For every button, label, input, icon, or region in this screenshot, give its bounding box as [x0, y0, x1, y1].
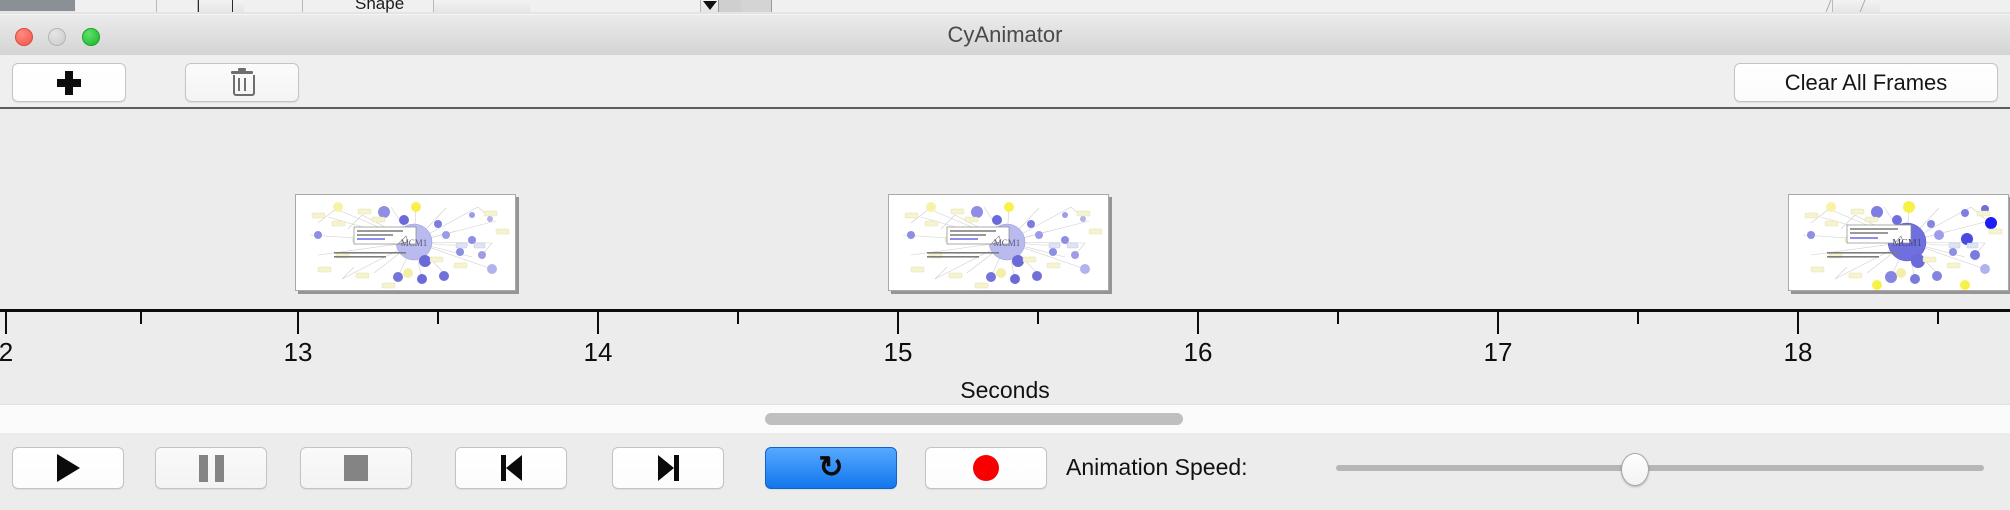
clear-all-frames-button[interactable]: Clear All Frames [1734, 63, 1998, 102]
background-toolbar-segment [1880, 0, 2010, 12]
axis-tick-minor [1637, 312, 1639, 324]
delete-frame-button[interactable] [185, 63, 299, 102]
axis-tick-major [297, 312, 299, 334]
hub-node-label: MCM1 [994, 238, 1021, 248]
timeline-panel[interactable]: MCM1 [0, 109, 2010, 399]
background-window-strip: Shape [0, 0, 2010, 14]
axis-tick-minor [1937, 312, 1939, 324]
timeline-scrollbar[interactable] [0, 404, 2010, 434]
title-bar: CyAnimator [0, 14, 2010, 56]
trash-icon [231, 71, 253, 95]
play-icon [57, 454, 80, 482]
background-toolbar-segment [530, 0, 701, 12]
axis-tick-label: 15 [884, 337, 913, 368]
axis-title: Seconds [0, 377, 2010, 399]
background-shape-label: Shape [355, 0, 404, 14]
background-cursor-icon [703, 1, 717, 10]
record-icon [973, 455, 999, 481]
animation-speed-label: Animation Speed: [1066, 447, 1248, 487]
axis-tick-major [597, 312, 599, 334]
frame-thumbnail[interactable]: MCM1 [295, 194, 516, 291]
skip-start-icon [501, 455, 522, 481]
axis-tick-major [1497, 312, 1499, 334]
axis-tick-label: 16 [1184, 337, 1213, 368]
timeline-axis [0, 309, 2010, 312]
record-button[interactable] [925, 447, 1047, 489]
axis-tick-major [1197, 312, 1199, 334]
background-toolbar-segment [244, 0, 303, 12]
axis-tick-minor [140, 312, 142, 324]
background-button [741, 0, 772, 12]
axis-tick-major [897, 312, 899, 334]
loop-icon: ↻ [818, 453, 843, 483]
background-button [718, 0, 742, 12]
axis-tick-label: 17 [1484, 337, 1513, 368]
window-title: CyAnimator [0, 15, 2010, 55]
slider-thumb[interactable] [1621, 453, 1649, 486]
toolbar: Clear All Frames [0, 55, 2010, 108]
axis-tick-minor [1337, 312, 1339, 324]
add-frame-button[interactable] [12, 63, 126, 102]
scrollbar-thumb[interactable] [765, 413, 1183, 425]
pause-icon [199, 455, 224, 482]
cyanimator-window: Shape CyAnimator Clear All Frames [0, 0, 2010, 510]
loop-button[interactable]: ↻ [765, 447, 897, 489]
skip-to-start-button[interactable] [455, 447, 567, 489]
background-toolbar-segment [76, 0, 157, 12]
background-tick [198, 0, 199, 12]
axis-tick-label: 18 [1784, 337, 1813, 368]
skip-to-end-button[interactable] [612, 447, 724, 489]
slider-track[interactable] [1336, 465, 1984, 471]
axis-tick-label: 13 [284, 337, 313, 368]
pause-button[interactable] [155, 447, 267, 489]
axis-tick-label: 14 [584, 337, 613, 368]
background-toolbar-dark-block [0, 0, 75, 11]
hub-node-label: MCM1 [401, 238, 428, 248]
background-divider [1860, 0, 1878, 12]
axis-tick-minor [737, 312, 739, 324]
axis-tick-major [1797, 312, 1799, 334]
skip-end-icon [658, 455, 679, 481]
axis-tick-label: 2 [0, 337, 13, 368]
hub-node-label: MCM1 [1892, 238, 1921, 249]
axis-tick-minor [1037, 312, 1039, 324]
axis-tick-minor [437, 312, 439, 324]
stop-button[interactable] [300, 447, 412, 489]
playback-controls: ↻ Animation Speed: [0, 433, 2010, 510]
stop-icon [344, 455, 368, 481]
plus-icon [56, 70, 82, 96]
animation-speed-slider[interactable] [1336, 447, 1984, 487]
background-toolbar-segment [772, 0, 1833, 12]
frame-thumbnail[interactable]: MCM1 [1788, 194, 2009, 291]
background-tick [232, 0, 233, 12]
axis-tick-major [5, 312, 7, 334]
play-button[interactable] [12, 447, 124, 489]
background-toolbar-segment [157, 0, 198, 12]
frame-thumbnail[interactable]: MCM1 [888, 194, 1109, 291]
